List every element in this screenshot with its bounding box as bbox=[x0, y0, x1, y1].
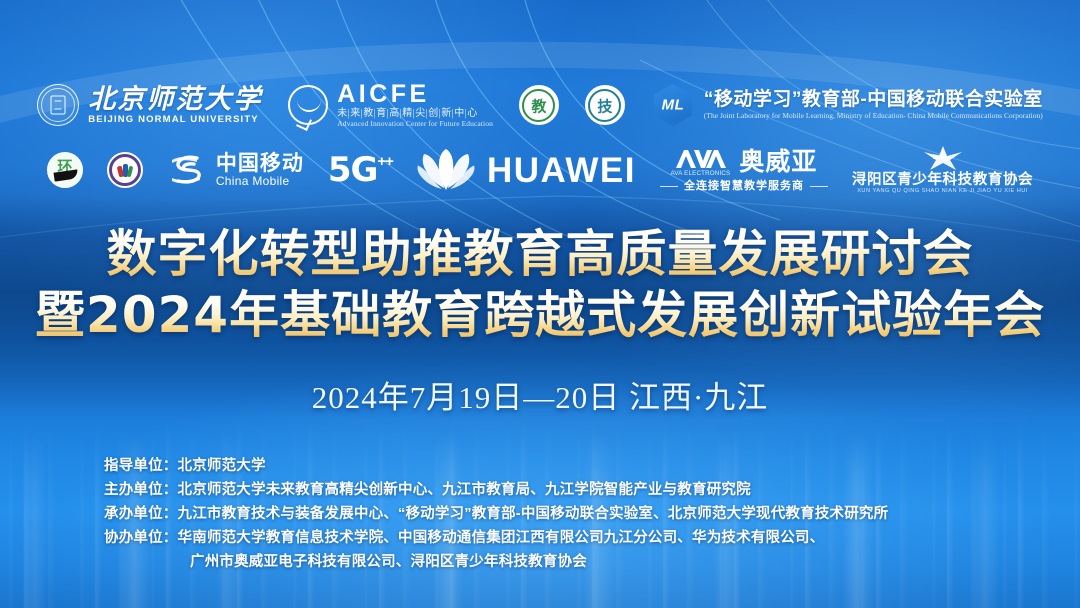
bnu-name-en: BEIJING NORMAL UNIVERSITY bbox=[88, 115, 262, 125]
xunyang-star-icon bbox=[921, 145, 965, 171]
ava-name-en: AVA ELECTRONICS bbox=[671, 171, 731, 177]
organizer-credit-line: 主办单位：北京师范大学未来教育高精尖创新中心、九江市教育局、九江学院智能产业与教… bbox=[104, 479, 888, 501]
credit-value: 北京师范大学 bbox=[178, 455, 266, 477]
ava-mark-icon bbox=[674, 148, 726, 170]
sponsor-logo-row-bottom: 环 中国移动 bbox=[0, 140, 1080, 200]
credit-label: 指导单位： bbox=[104, 455, 178, 477]
credit-label: 承办单位： bbox=[104, 503, 178, 525]
ava-name-cn: 奥威亚 bbox=[739, 150, 817, 175]
logo-beijing-normal-university: 北京师范大学 BEIJING NORMAL UNIVERSITY bbox=[37, 84, 262, 126]
teal-seal-glyph: 技 bbox=[597, 95, 612, 116]
credit-label: 协办单位： bbox=[104, 527, 178, 549]
bnu-name-cn: 北京师范大学 bbox=[88, 86, 262, 113]
logo-aicfe: AICFE 未|来|教|育|高|精|尖|创|新|中|心 Advanced Inn… bbox=[288, 82, 493, 128]
purple-association-emblem-icon bbox=[107, 152, 143, 188]
xunyang-name-pinyin: XUN YANG QU QING SHAO NIAN KE JI JIAO YU… bbox=[857, 189, 1028, 195]
green-academic-seal-icon: 教 bbox=[519, 85, 559, 125]
credit-label: 主办单位： bbox=[104, 479, 178, 501]
conference-title-line-1: 数字化转型助推教育高质量发展研讨会 bbox=[0, 226, 1080, 283]
bnu-seal-icon bbox=[37, 84, 79, 126]
conference-title-line-2: 暨2024年基础教育跨越式发展创新试验年会 bbox=[0, 287, 1080, 344]
conference-banner: 北京师范大学 BEIJING NORMAL UNIVERSITY AICFE 未… bbox=[0, 0, 1080, 608]
huawei-flower-icon bbox=[417, 148, 475, 192]
credit-value: 华南师范大学教育信息技术学院、中国移动通信集团江西有限公司九江分公司、华为技术有… bbox=[178, 527, 825, 549]
teal-academic-seal-icon: 技 bbox=[585, 85, 625, 125]
fiveg-superscript: ++ bbox=[377, 154, 393, 169]
organizer-credit-line: 广州市奥威亚电子科技有限公司、浔阳区青少年科技教育协会 bbox=[104, 551, 888, 573]
ava-tagline: 全连接智慧教学服务商 bbox=[684, 181, 804, 192]
logo-huawei: HUAWEI bbox=[417, 148, 636, 192]
conference-date-location: 2024年7月19日—20日 江西·九江 bbox=[0, 372, 1080, 417]
aicfe-name-cn: 未|来|教|育|高|精|尖|创|新|中|心 bbox=[337, 108, 493, 119]
credit-indent-spacer bbox=[104, 551, 190, 573]
logo-xunyang-association: 浔阳区青少年科技教育协会 XUN YANG QU QING SHAO NIAN … bbox=[852, 145, 1033, 195]
credit-value: 广州市奥威亚电子科技有限公司、浔阳区青少年科技教育协会 bbox=[190, 551, 587, 573]
aicfe-name-en: Advanced Innovation Center for Future Ed… bbox=[337, 120, 493, 128]
china-mobile-icon bbox=[167, 151, 207, 189]
sponsor-logo-row-top: 北京师范大学 BEIJING NORMAL UNIVERSITY AICFE 未… bbox=[0, 76, 1080, 134]
logo-china-mobile: 中国移动 China Mobile bbox=[167, 151, 304, 189]
china-mobile-name-en: China Mobile bbox=[216, 175, 304, 187]
credit-value: 北京师范大学未来教育高精尖创新中心、九江市教育局、九江学院智能产业与教育研究院 bbox=[178, 479, 751, 501]
organizer-credits-block: 指导单位：北京师范大学主办单位：北京师范大学未来教育高精尖创新中心、九江市教育局… bbox=[104, 455, 888, 573]
green-seal-glyph: 教 bbox=[531, 95, 546, 116]
conference-title-block: 数字化转型助推教育高质量发展研讨会 暨2024年基础教育跨越式发展创新试验年会 bbox=[0, 226, 1080, 344]
organizer-credit-line: 承办单位：九江市教育技术与装备发展中心、“移动学习”教育部-中国移动联合实验室、… bbox=[104, 503, 888, 525]
credit-value: 九江市教育技术与装备发展中心、“移动学习”教育部-中国移动联合实验室、北京师范大… bbox=[178, 503, 889, 525]
organizer-credit-line: 协办单位：华南师范大学教育信息技术学院、中国移动通信集团江西有限公司九江分公司、… bbox=[104, 527, 888, 549]
organizer-credit-line: 指导单位：北京师范大学 bbox=[104, 455, 888, 477]
aicfe-speech-bubble-icon bbox=[288, 85, 328, 125]
ml-mark-text: ML bbox=[651, 97, 695, 114]
aicfe-acronym: AICFE bbox=[337, 82, 493, 107]
china-mobile-name-cn: 中国移动 bbox=[216, 153, 304, 174]
logo-5g-plus-plus: 5G ++ bbox=[328, 153, 393, 187]
fiveg-number: 5G bbox=[328, 153, 378, 187]
logo-mobile-learning-lab: ML “移动学习”教育部-中国移动联合实验室 (The Joint Labora… bbox=[651, 83, 1043, 127]
green-leaf-emblem-icon: 环 bbox=[47, 152, 83, 188]
ml-lab-name-en: (The Joint Laboratory for Mobile Learnin… bbox=[704, 112, 1043, 119]
ml-hexagon-icon: ML bbox=[651, 83, 695, 127]
ml-lab-name-cn: “移动学习”教育部-中国移动联合实验室 bbox=[704, 90, 1043, 109]
logo-ava: AVA ELECTRONICS 奥威亚 全连接智慧教学服务商 bbox=[660, 148, 828, 191]
xunyang-name-cn: 浔阳区青少年科技教育协会 bbox=[852, 173, 1033, 188]
huawei-wordmark: HUAWEI bbox=[487, 153, 636, 188]
